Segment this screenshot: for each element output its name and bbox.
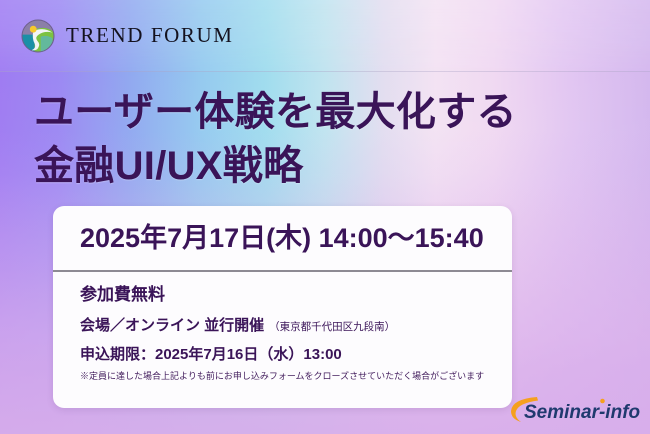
seminar-info-wordmark: Seminar-info [524, 402, 640, 423]
event-venue-address: （東京都千代田区九段南） [269, 322, 395, 333]
seminar-info-logo: Seminar-info [506, 392, 640, 428]
seminar-info-dot-icon [600, 399, 605, 404]
header-band: TREND FORUM [0, 0, 650, 72]
event-details: 参加費無料 会場／オンライン 並行開催 （東京都千代田区九段南） 申込期限：20… [53, 272, 512, 382]
application-deadline: 申込期限：2025年7月16日（水）13:00 [80, 347, 512, 362]
application-note: ※定員に達した場合上記よりも前にお申し込みフォームをクローズさせていただく場合が… [80, 371, 512, 382]
seminar-banner: TREND FORUM ユーザー体験を最大化する 金融UI/UX戦略 2025年… [0, 0, 650, 434]
trend-forum-logo-icon [21, 19, 55, 53]
event-venue: 会場／オンライン 並行開催 [80, 318, 264, 333]
page-title: ユーザー体験を最大化する 金融UI/UX戦略 [34, 86, 517, 193]
event-date-row: 2025年7月17日(木) 14:00〜15:40 [53, 206, 512, 272]
header-inner: TREND FORUM [0, 0, 650, 71]
event-datetime: 2025年7月17日(木) 14:00〜15:40 [80, 225, 484, 252]
event-info-card: 2025年7月17日(木) 14:00〜15:40 参加費無料 会場／オンライン… [53, 206, 512, 408]
event-venue-row: 会場／オンライン 並行開催 （東京都千代田区九段南） [80, 318, 512, 333]
title-line-2: 金融UI/UX戦略 [34, 140, 517, 194]
brand-name: TREND FORUM [66, 25, 234, 46]
title-line-1: ユーザー体験を最大化する [34, 86, 517, 140]
event-fee: 参加費無料 [80, 286, 512, 303]
